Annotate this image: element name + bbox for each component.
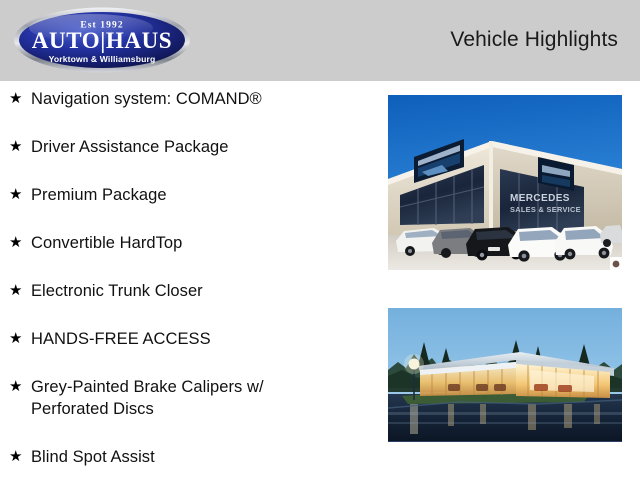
list-item: ★ Blind Spot Assist — [0, 446, 372, 468]
building-sign-line2: SALES & SERVICE — [510, 205, 581, 214]
star-icon: ★ — [9, 88, 31, 110]
list-item-label: Convertible HardTop — [31, 232, 372, 254]
list-item: ★ Electronic Trunk Closer — [0, 280, 372, 302]
star-icon: ★ — [9, 376, 31, 398]
list-item-label: Grey-Painted Brake Calipers w/ Perforate… — [31, 376, 372, 420]
star-icon: ★ — [9, 446, 31, 468]
list-item-label: HANDS-FREE ACCESS — [31, 328, 372, 350]
list-item-label: Navigation system: COMAND® — [31, 88, 372, 110]
list-item: ★ HANDS-FREE ACCESS — [0, 328, 372, 350]
autohaus-logo: Est 1992 AUTO|HAUS Yorktown & Williamsbu… — [13, 7, 191, 73]
list-item: ★ Driver Assistance Package — [0, 136, 372, 158]
list-item-label: Premium Package — [31, 184, 372, 206]
star-icon: ★ — [9, 328, 31, 350]
star-icon: ★ — [9, 280, 31, 302]
list-item: ★ Grey-Painted Brake Calipers w/ Perfora… — [0, 376, 372, 420]
dealership-dusk-photo — [388, 308, 622, 442]
star-icon: ★ — [9, 136, 31, 158]
logo-brand-text: AUTO|HAUS — [32, 28, 172, 53]
building-sign-line1: MERCEDES — [510, 193, 570, 204]
dealership-daytime-photo: MERCEDES SALES & SERVICE — [388, 95, 622, 270]
list-item-label: Blind Spot Assist — [31, 446, 372, 468]
list-item: ★ Convertible HardTop — [0, 232, 372, 254]
vehicle-highlights-slide: Est 1992 AUTO|HAUS Yorktown & Williamsbu… — [0, 0, 640, 480]
star-icon: ★ — [9, 232, 31, 254]
list-item-label: Electronic Trunk Closer — [31, 280, 372, 302]
page-title: Vehicle Highlights — [450, 28, 618, 52]
list-item-label: Driver Assistance Package — [31, 136, 372, 158]
page-header: Est 1992 AUTO|HAUS Yorktown & Williamsbu… — [0, 0, 640, 81]
list-item: ★ Premium Package — [0, 184, 372, 206]
star-icon: ★ — [9, 184, 31, 206]
list-item: ★ Navigation system: COMAND® — [0, 88, 372, 110]
logo-locations-text: Yorktown & Williamsburg — [49, 54, 156, 64]
vehicle-highlights-list: ★ Navigation system: COMAND® ★ Driver As… — [0, 88, 372, 494]
